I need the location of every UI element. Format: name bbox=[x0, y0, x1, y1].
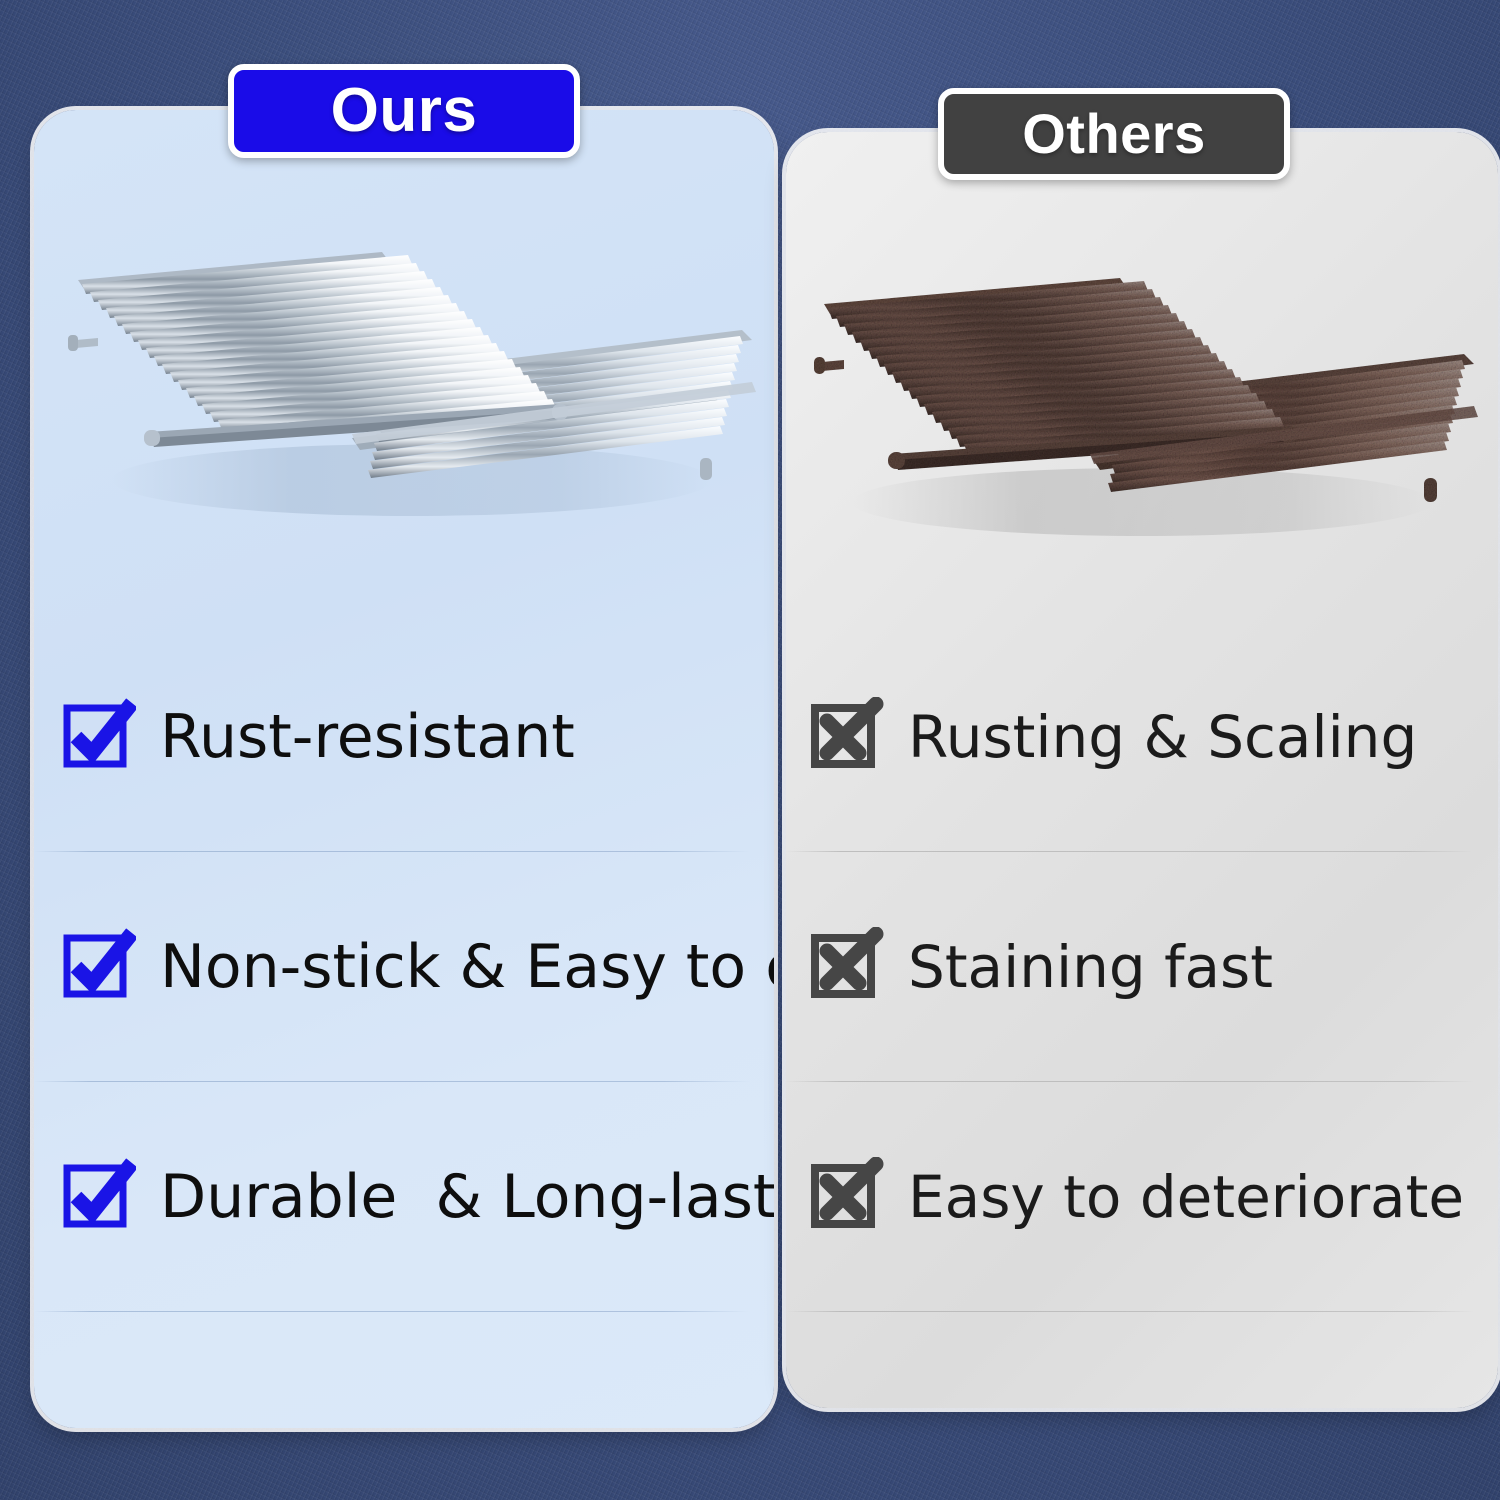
feature-label: Non-stick & Easy to clean bbox=[160, 937, 774, 997]
panel-ours: Rust-resistant Non-stick & Easy to clean… bbox=[34, 110, 774, 1428]
feature-label: Easy to deteriorate bbox=[908, 1168, 1464, 1226]
feature-label: Rust-resistant bbox=[160, 707, 575, 767]
badge-others-label: Others bbox=[1022, 106, 1206, 162]
feature-label: Rusting & Scaling bbox=[908, 708, 1417, 766]
feature-row: Durable & Long-lasting bbox=[34, 1082, 774, 1312]
feature-label: Staining fast bbox=[908, 938, 1273, 996]
cross-square-icon bbox=[810, 697, 884, 771]
check-square-icon bbox=[62, 697, 136, 771]
feature-row: Staining fast bbox=[786, 852, 1498, 1082]
stainless-steel-grill-grates bbox=[52, 222, 758, 552]
comparison-infographic: Rust-resistant Non-stick & Easy to clean… bbox=[0, 0, 1500, 1500]
feature-row: Rust-resistant bbox=[34, 622, 774, 852]
feature-list-ours: Rust-resistant Non-stick & Easy to clean… bbox=[34, 622, 774, 1312]
check-square-icon bbox=[62, 927, 136, 1001]
cross-square-icon bbox=[810, 1157, 884, 1231]
rusted-grill-grates bbox=[802, 250, 1482, 560]
badge-others: Others bbox=[938, 88, 1290, 180]
feature-list-others: Rusting & Scaling Staining fast Ea bbox=[786, 622, 1498, 1312]
panel-others: Rusting & Scaling Staining fast Ea bbox=[786, 132, 1498, 1408]
feature-divider bbox=[34, 1311, 750, 1312]
feature-divider bbox=[786, 1311, 1474, 1312]
cross-square-icon bbox=[810, 927, 884, 1001]
feature-label: Durable & Long-lasting bbox=[160, 1167, 774, 1227]
badge-ours: Ours bbox=[228, 64, 580, 158]
check-square-icon bbox=[62, 1157, 136, 1231]
feature-row: Non-stick & Easy to clean bbox=[34, 852, 774, 1082]
feature-row: Rusting & Scaling bbox=[786, 622, 1498, 852]
feature-row: Easy to deteriorate bbox=[786, 1082, 1498, 1312]
badge-ours-label: Ours bbox=[331, 80, 478, 142]
